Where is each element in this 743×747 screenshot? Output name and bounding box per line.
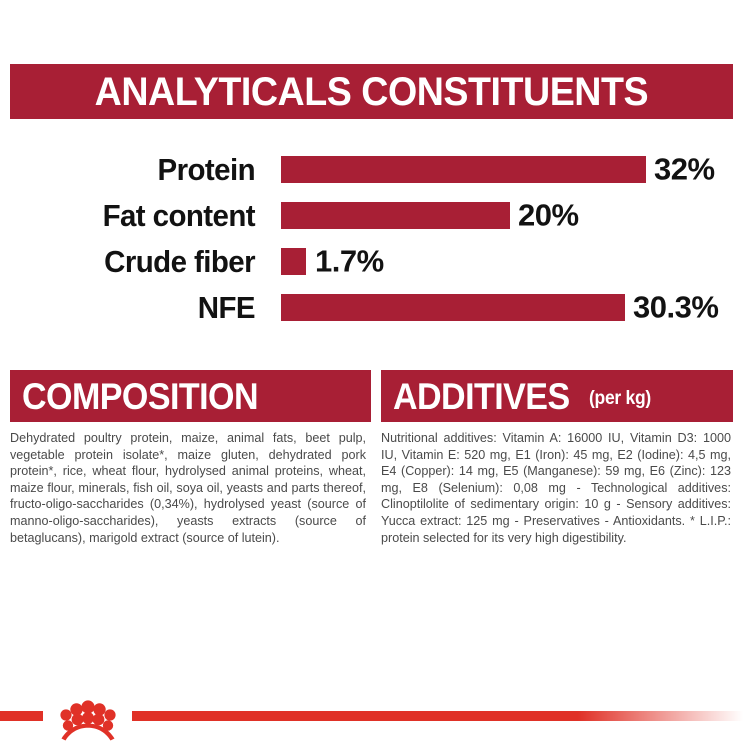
composition-title: COMPOSITION (22, 378, 258, 415)
additives-subtitle: (per kg) (589, 389, 651, 408)
chart-bar-crude-fiber (281, 248, 306, 275)
additives-title: ADDITIVES (393, 378, 570, 415)
chart-row-fat-content: Fat content 20% (0, 192, 743, 238)
chart-label-protein: Protein (13, 154, 255, 185)
royal-canin-crown-icon (48, 697, 128, 745)
chart-row-nfe: NFE 30.3% (0, 284, 743, 330)
analyticals-header-band: ANALYTICALS CONSTITUENTS (10, 64, 733, 119)
chart-row-crude-fiber: Crude fiber 1.7% (0, 238, 743, 284)
additives-column: ADDITIVES (per kg) Nutritional additives… (381, 370, 733, 546)
chart-label-nfe: NFE (13, 292, 255, 323)
chart-bar-nfe (281, 294, 625, 321)
brand-rule-left (0, 711, 43, 721)
analyticals-title: ANALYTICALS CONSTITUENTS (95, 72, 648, 112)
product-nutrition-panel: ANALYTICALS CONSTITUENTS Protein 32% Fat… (0, 0, 743, 747)
composition-header-band: COMPOSITION (10, 370, 371, 422)
chart-value-protein: 32% (654, 154, 715, 185)
chart-value-fat-content: 20% (518, 200, 579, 231)
chart-label-fat-content: Fat content (13, 200, 255, 231)
chart-bar-fat-content (281, 202, 510, 229)
chart-value-nfe: 30.3% (633, 292, 718, 323)
chart-bar-protein (281, 156, 646, 183)
brand-footer (0, 697, 743, 747)
chart-label-crude-fiber: Crude fiber (13, 246, 255, 277)
analyticals-bar-chart: Protein 32% Fat content 20% Crude fiber … (0, 146, 743, 332)
additives-header-band: ADDITIVES (per kg) (381, 370, 733, 422)
composition-body-text: Dehydrated poultry protein, maize, anima… (10, 422, 366, 546)
chart-row-protein: Protein 32% (0, 146, 743, 192)
composition-column: COMPOSITION Dehydrated poultry protein, … (10, 370, 371, 546)
brand-rule-right (132, 711, 743, 721)
chart-value-crude-fiber: 1.7% (315, 246, 384, 277)
additives-body-text: Nutritional additives: Vitamin A: 16000 … (381, 422, 731, 546)
